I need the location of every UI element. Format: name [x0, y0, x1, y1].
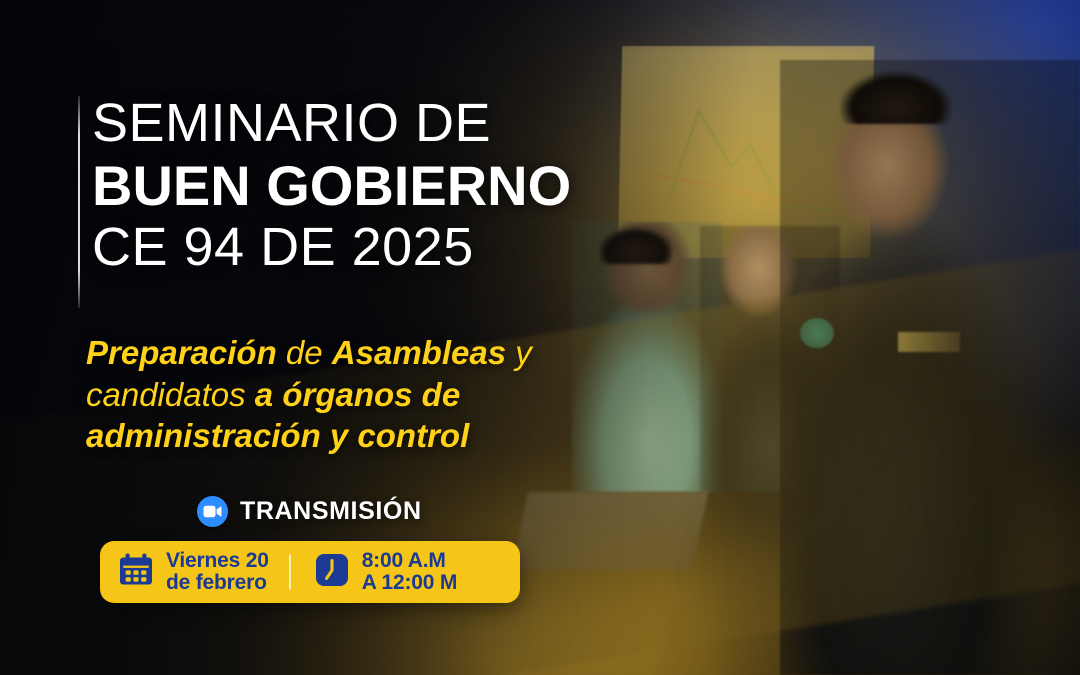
subtitle-y: y — [506, 334, 532, 371]
time-text: 8:00 A.M A 12:00 M — [362, 550, 457, 595]
calendar-icon — [117, 551, 155, 594]
zoom-video-camera-icon — [197, 496, 228, 527]
banner-content: SEMINARIO DE BUEN GOBIERNO CE 94 DE 2025… — [0, 0, 1080, 675]
date-line-2: de febrero — [166, 571, 267, 594]
subtitle-de: de — [277, 334, 332, 371]
clock-icon — [313, 551, 351, 594]
broadcast-row: TRANSMISIÓN — [197, 496, 422, 527]
time-cell: 8:00 A.M A 12:00 M — [291, 550, 457, 595]
broadcast-label: TRANSMISIÓN — [240, 497, 422, 526]
title-accent-rule — [78, 96, 80, 308]
seminar-promo-banner: SEMINARIO DE BUEN GOBIERNO CE 94 DE 2025… — [0, 0, 1080, 675]
title-line-1: SEMINARIO DE — [92, 98, 652, 149]
subtitle-line-1: Preparación de Asambleas y — [86, 332, 666, 374]
title-line-2: BUEN GOBIERNO — [92, 159, 652, 212]
title-block: SEMINARIO DE BUEN GOBIERNO CE 94 DE 2025 — [92, 98, 652, 274]
subtitle-line-3: administración y control — [86, 415, 666, 457]
date-line-1: Viernes 20 — [166, 549, 269, 572]
subtitle-asambleas: Asambleas — [332, 334, 506, 371]
time-line-2: A 12:00 M — [362, 571, 457, 594]
subtitle-candidatos: candidatos — [86, 376, 255, 413]
date-cell: Viernes 20 de febrero — [100, 550, 269, 595]
event-info-badge: Viernes 20 de febrero 8:00 A.M A 12:00 M — [100, 541, 520, 603]
subtitle-line-2: candidatos a órganos de — [86, 374, 666, 416]
time-line-1: 8:00 A.M — [362, 549, 446, 572]
subtitle-preparacion: Preparación — [86, 334, 277, 371]
title-line-3: CE 94 DE 2025 — [92, 222, 652, 273]
subtitle-administracion: administración y control — [86, 417, 469, 454]
subtitle-organos: a órganos de — [255, 376, 460, 413]
date-text: Viernes 20 de febrero — [166, 550, 269, 595]
subtitle-block: Preparación de Asambleas y candidatos a … — [86, 332, 666, 457]
